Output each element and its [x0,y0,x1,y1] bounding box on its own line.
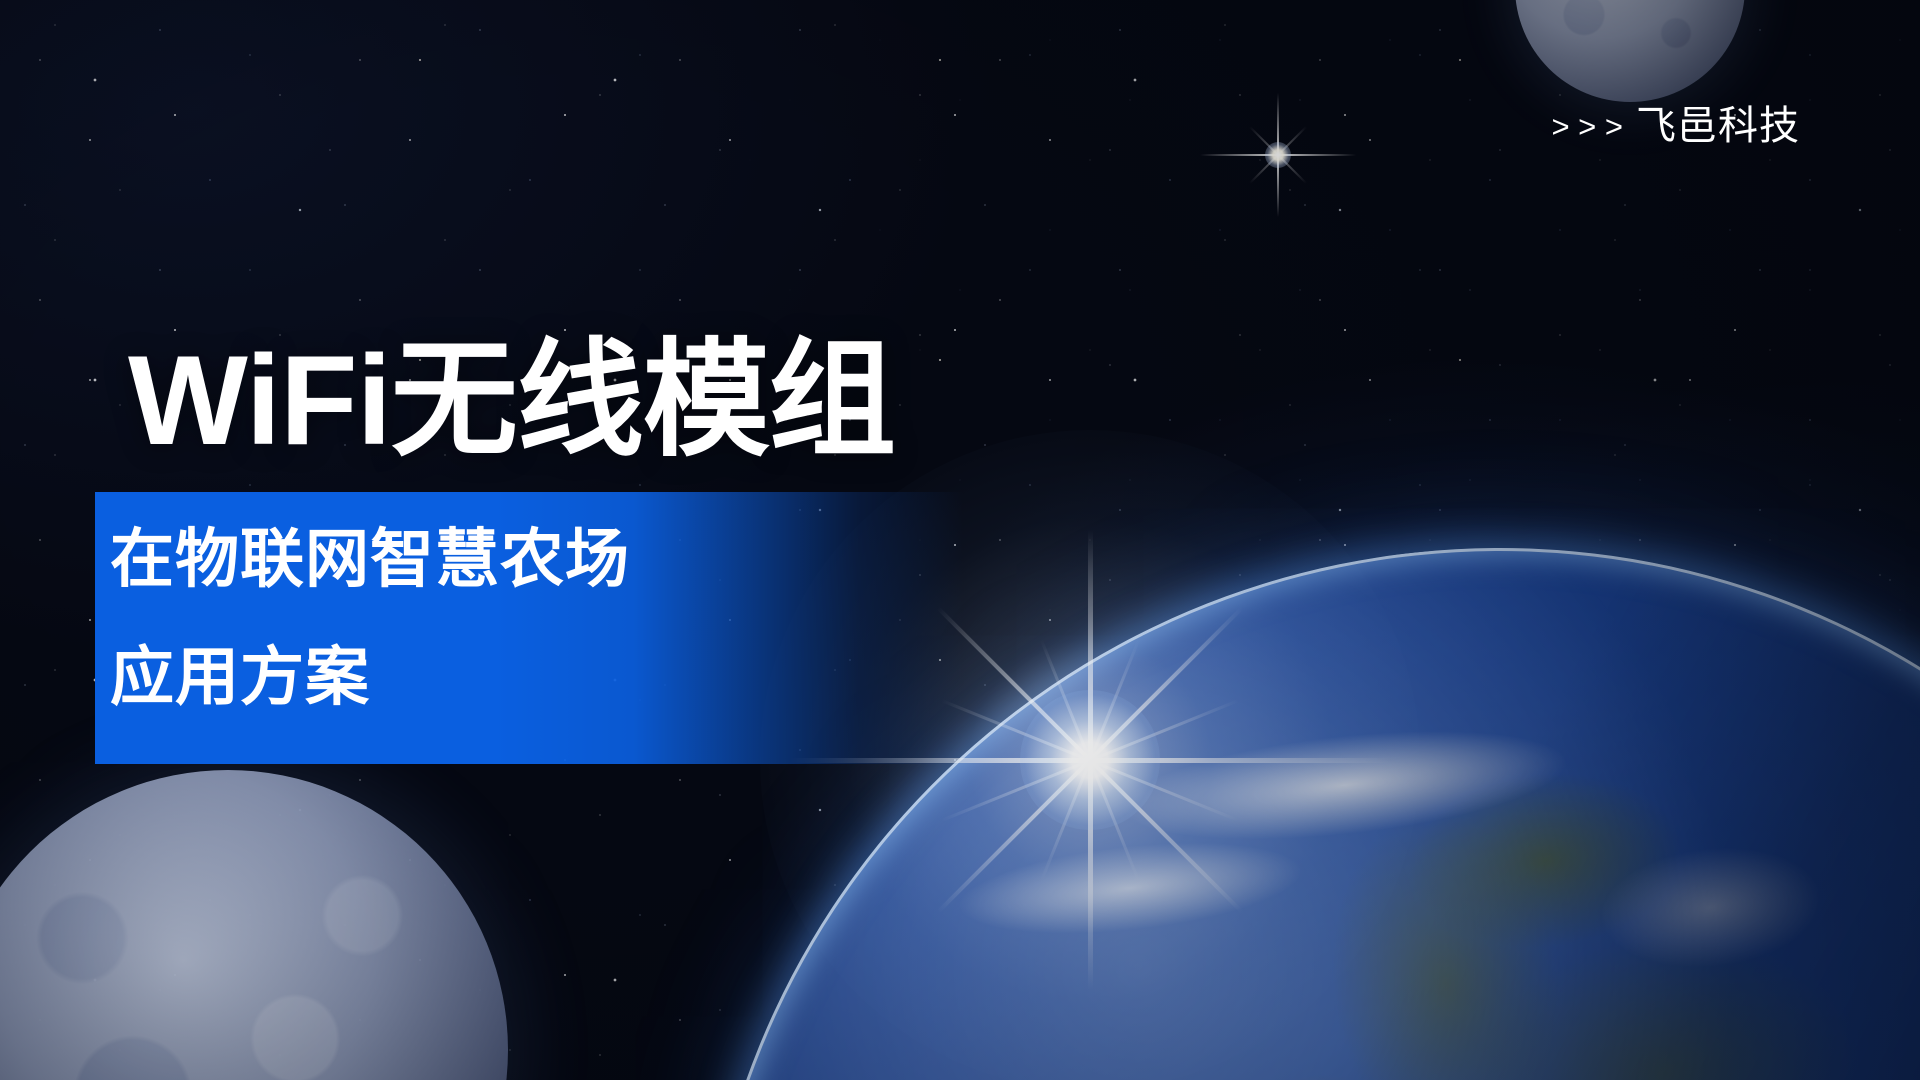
hero-slide: > > > 飞邑科技 WiFi无线模组 在物联网智慧农场 应用方案 [0,0,1920,1080]
subtitle-line-1: 在物联网智慧农场 [110,500,970,618]
subtitle-line-2: 应用方案 [110,618,970,736]
chevron-right-icon: > > > [1551,111,1636,142]
subtitle-text: 在物联网智慧农场 应用方案 [110,500,970,736]
brand-logo[interactable]: > > > 飞邑科技 [1551,106,1800,146]
sun-flare-core [1020,690,1160,830]
star-core [1265,142,1291,168]
page-title: WiFi无线模组 [128,336,895,466]
brand-name: 飞邑科技 [1636,106,1800,146]
